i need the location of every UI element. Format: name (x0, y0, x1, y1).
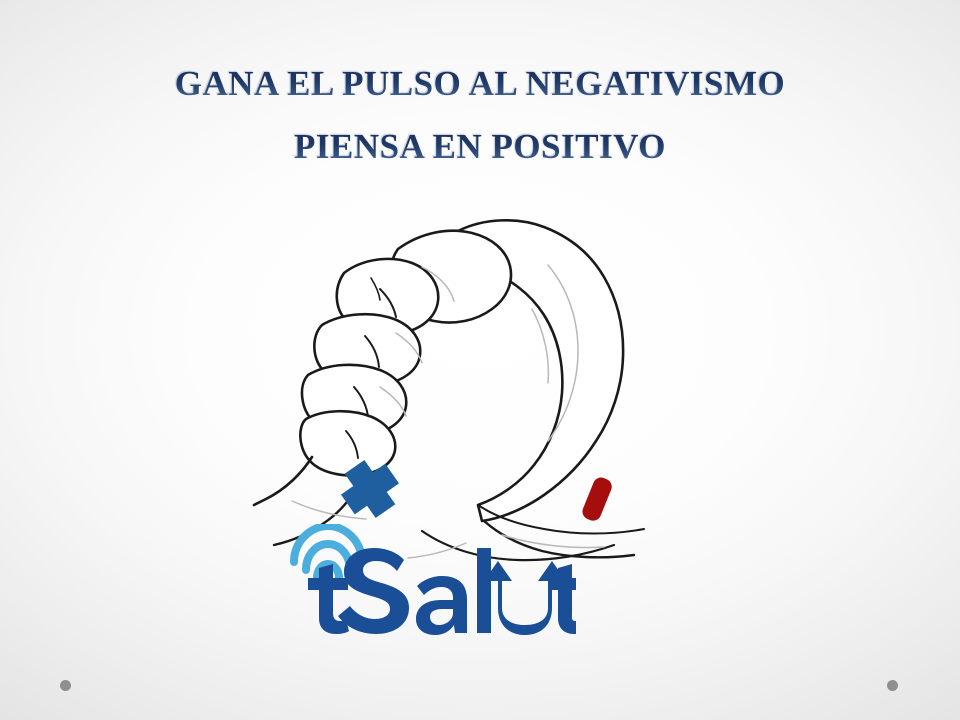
red-dash-mark (564, 465, 630, 531)
cross-icon (336, 455, 404, 523)
blue-cross-mark (336, 455, 404, 523)
logo-wordmark (308, 548, 491, 635)
tsalut-logo: tSalut (286, 524, 576, 636)
clasped-hands-illustration: Pen sketch of two hands gripping each ot… (252, 205, 712, 565)
decoration-dot-left (60, 680, 71, 691)
decoration-dot-right (887, 680, 898, 691)
logo-u-glyph (484, 561, 566, 635)
clasped-hands-sketch-icon (252, 205, 712, 565)
title-line-secondary: PIENSA EN POSITIVO (0, 129, 960, 164)
dash-icon (564, 465, 630, 531)
slide-title-block: GANA EL PULSO AL NEGATIVISMO PIENSA EN P… (0, 66, 960, 164)
title-line-primary: GANA EL PULSO AL NEGATIVISMO (0, 66, 960, 101)
slide-canvas: GANA EL PULSO AL NEGATIVISMO PIENSA EN P… (0, 0, 960, 720)
